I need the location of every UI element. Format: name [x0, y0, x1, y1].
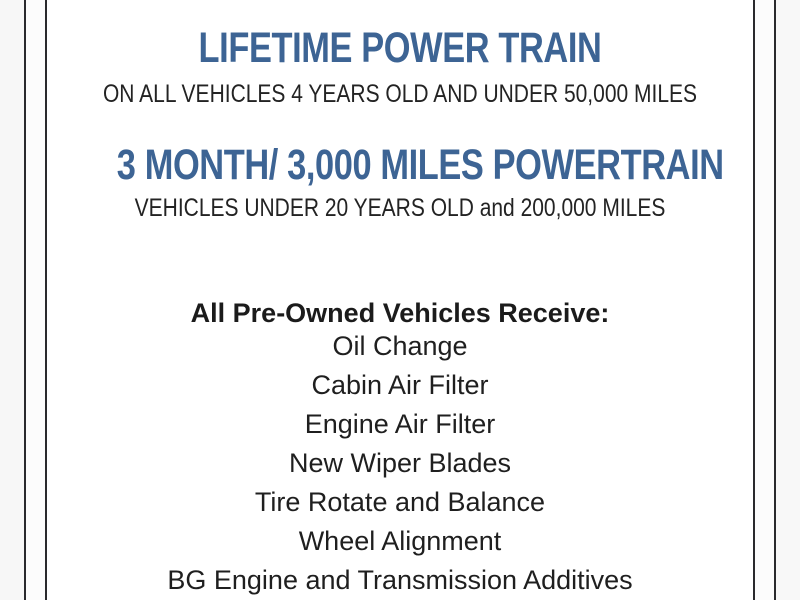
services-section: All Pre-Owned Vehicles Receive: Oil Chan…: [46, 300, 754, 600]
three-month-powertrain-eligibility-text: VEHICLES UNDER 20 YEARS OLD and 200,000 …: [103, 196, 698, 221]
outer-left-border-rule: [24, 0, 26, 600]
right-page-margin: [776, 0, 800, 600]
services-list: Oil Change Cabin Air Filter Engine Air F…: [46, 327, 754, 600]
list-item: Cabin Air Filter: [46, 366, 754, 405]
left-page-margin: [0, 0, 24, 600]
lifetime-powertrain-headline: LIFETIME POWER TRAIN: [117, 27, 683, 70]
outer-right-border-rule: [774, 0, 776, 600]
flyer-content: LIFETIME POWER TRAIN ON ALL VEHICLES 4 Y…: [46, 0, 754, 600]
list-item: New Wiper Blades: [46, 444, 754, 483]
list-item: Engine Air Filter: [46, 405, 754, 444]
warranty-block-lifetime: LIFETIME POWER TRAIN: [46, 27, 754, 70]
list-item: Tire Rotate and Balance: [46, 483, 754, 522]
three-month-powertrain-headline: 3 MONTH/ 3,000 MILES POWERTRAIN: [117, 144, 683, 187]
warranty-block-three-month: 3 MONTH/ 3,000 MILES POWERTRAIN: [46, 144, 754, 187]
left-gutter-band: [26, 0, 45, 600]
list-item: Wheel Alignment: [46, 522, 754, 561]
warranty-subhead-three-month: VEHICLES UNDER 20 YEARS OLD and 200,000 …: [46, 196, 754, 221]
list-item: BG Engine and Transmission Additives: [46, 561, 754, 600]
warranty-subhead-lifetime: ON ALL VEHICLES 4 YEARS OLD AND UNDER 50…: [46, 82, 754, 107]
list-item: Oil Change: [46, 327, 754, 366]
right-gutter-band: [755, 0, 774, 600]
flyer-page: LIFETIME POWER TRAIN ON ALL VEHICLES 4 Y…: [0, 0, 800, 600]
services-section-title: All Pre-Owned Vehicles Receive:: [46, 300, 754, 327]
lifetime-powertrain-eligibility-text: ON ALL VEHICLES 4 YEARS OLD AND UNDER 50…: [103, 82, 698, 107]
